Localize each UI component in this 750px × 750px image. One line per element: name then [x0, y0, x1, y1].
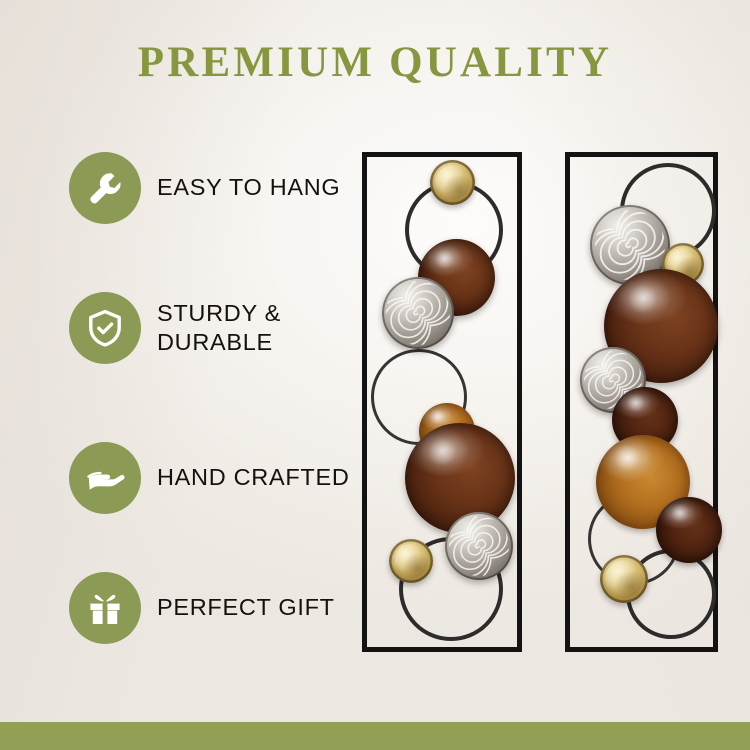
spiral-pattern [449, 516, 509, 576]
feature-item-sturdy-durable: STURDY & DURABLE [69, 292, 281, 364]
panel-composition [367, 157, 517, 647]
wall-panel-left [362, 152, 522, 652]
feature-icon-badge [69, 152, 141, 224]
spiral-pattern [386, 281, 449, 344]
feature-item-hand-crafted: HAND CRAFTED [69, 442, 350, 514]
feature-icon-badge [69, 292, 141, 364]
decor-disc-silver-spiral [382, 277, 454, 349]
hand-icon [84, 457, 126, 499]
decor-disc-gold [389, 539, 433, 583]
feature-item-perfect-gift: PERFECT GIFT [69, 572, 335, 644]
shield-check-icon [85, 308, 125, 348]
feature-item-easy-to-hang: EASY TO HANG [69, 152, 340, 224]
panel-composition [570, 157, 713, 647]
decor-disc-silver-spiral [445, 512, 513, 580]
feature-icon-badge [69, 572, 141, 644]
feature-label: HAND CRAFTED [157, 463, 350, 492]
decor-disc-gold [430, 160, 475, 205]
page-title: PREMIUM QUALITY [0, 41, 750, 84]
wall-panel-right [565, 152, 718, 652]
feature-label: PERFECT GIFT [157, 593, 335, 622]
wrench-icon [85, 168, 125, 208]
decor-disc-brown [656, 497, 722, 563]
feature-label: STURDY & DURABLE [157, 299, 281, 357]
product-infographic: PREMIUM QUALITY EASY TO HANG STURDY & DU… [0, 0, 750, 750]
bottom-accent-bar [0, 722, 750, 750]
decor-disc-gold [600, 555, 648, 603]
gift-icon [85, 588, 125, 628]
feature-icon-badge [69, 442, 141, 514]
feature-label: EASY TO HANG [157, 173, 340, 202]
